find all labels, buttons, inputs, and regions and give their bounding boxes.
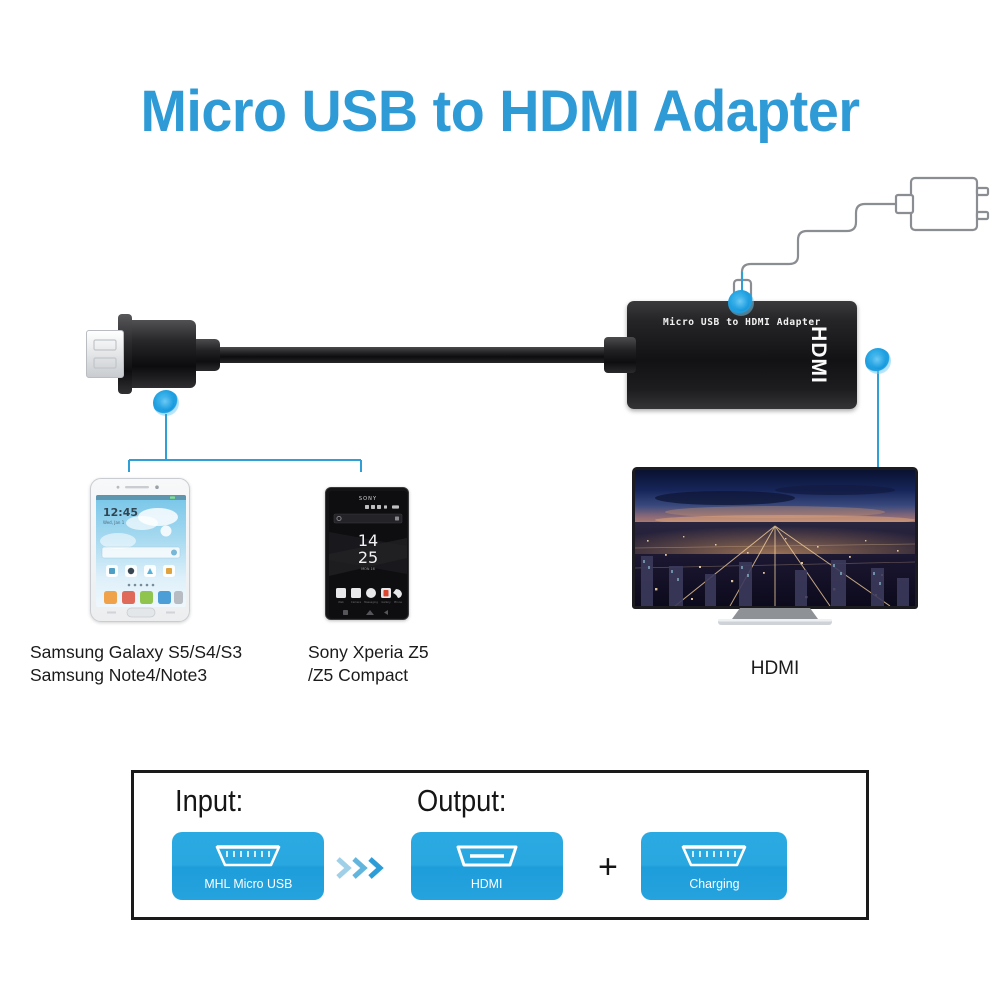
samsung-screen: 12:45 Wed, Jan 1	[96, 495, 186, 607]
adapter-cable	[200, 347, 632, 363]
svg-text:Camera: Camera	[351, 600, 362, 604]
samsung-phone: 12:45 Wed, Jan 1	[90, 478, 190, 622]
callout-dot-hdmi	[865, 348, 891, 374]
hdmi-port-icon	[444, 841, 530, 871]
callout-bracket-phones	[120, 402, 380, 472]
samsung-caption: Samsung Galaxy S5/S4/S3 Samsung Note4/No…	[30, 641, 242, 687]
micro-usb-port-icon	[671, 841, 757, 871]
wall-charger-icon	[715, 160, 1000, 300]
svg-text:12:45: 12:45	[103, 506, 138, 519]
cable-collar-right	[604, 337, 636, 373]
svg-text:Wed, Jan 1: Wed, Jan 1	[103, 520, 125, 525]
svg-text:MON 16: MON 16	[361, 567, 375, 571]
svg-text:Gallery: Gallery	[381, 600, 391, 604]
tv-caption: HDMI	[632, 658, 918, 680]
page-title: Micro USB to HDMI Adapter	[20, 78, 980, 145]
plus-sign: +	[598, 848, 618, 887]
card-label-charging: Charging	[689, 876, 739, 891]
sony-caption: Sony Xperia Z5 /Z5 Compact	[308, 641, 429, 687]
sony-phone: SONY 14 25 MON 16	[325, 487, 409, 620]
hdmi-adapter-body: Micro USB to HDMI Adapter HDMI	[627, 301, 857, 409]
svg-text:Phone: Phone	[394, 600, 402, 604]
card-label-hdmi: HDMI	[471, 876, 503, 891]
tv-stand	[632, 608, 918, 628]
card-charging[interactable]: Charging	[641, 832, 787, 900]
micro-usb-plug-tip	[86, 330, 124, 378]
card-mhl-micro-usb[interactable]: MHL Micro USB	[172, 832, 324, 900]
svg-text:Web: Web	[338, 600, 344, 604]
card-hdmi[interactable]: HDMI	[411, 832, 563, 900]
card-label-mhl-micro-usb: MHL Micro USB	[204, 876, 292, 891]
output-heading: Output:	[417, 783, 506, 819]
triple-chevron-right-icon	[334, 855, 392, 881]
svg-text:25: 25	[358, 548, 378, 567]
callout-line-hdmi	[877, 368, 879, 468]
television	[632, 467, 918, 627]
micro-usb-plug-body	[126, 320, 196, 388]
callout-dot-power	[728, 290, 754, 316]
micro-usb-port-icon	[205, 841, 291, 871]
input-heading: Input:	[175, 783, 243, 819]
adapter-side-hdmi-label: HDMI	[806, 326, 830, 384]
tv-screen	[632, 467, 918, 609]
svg-text:SONY: SONY	[359, 496, 377, 502]
product-diagram: Micro USB to HDMI Adapter Micro USB to H…	[0, 0, 1000, 1000]
svg-text:Messaging: Messaging	[364, 600, 378, 604]
